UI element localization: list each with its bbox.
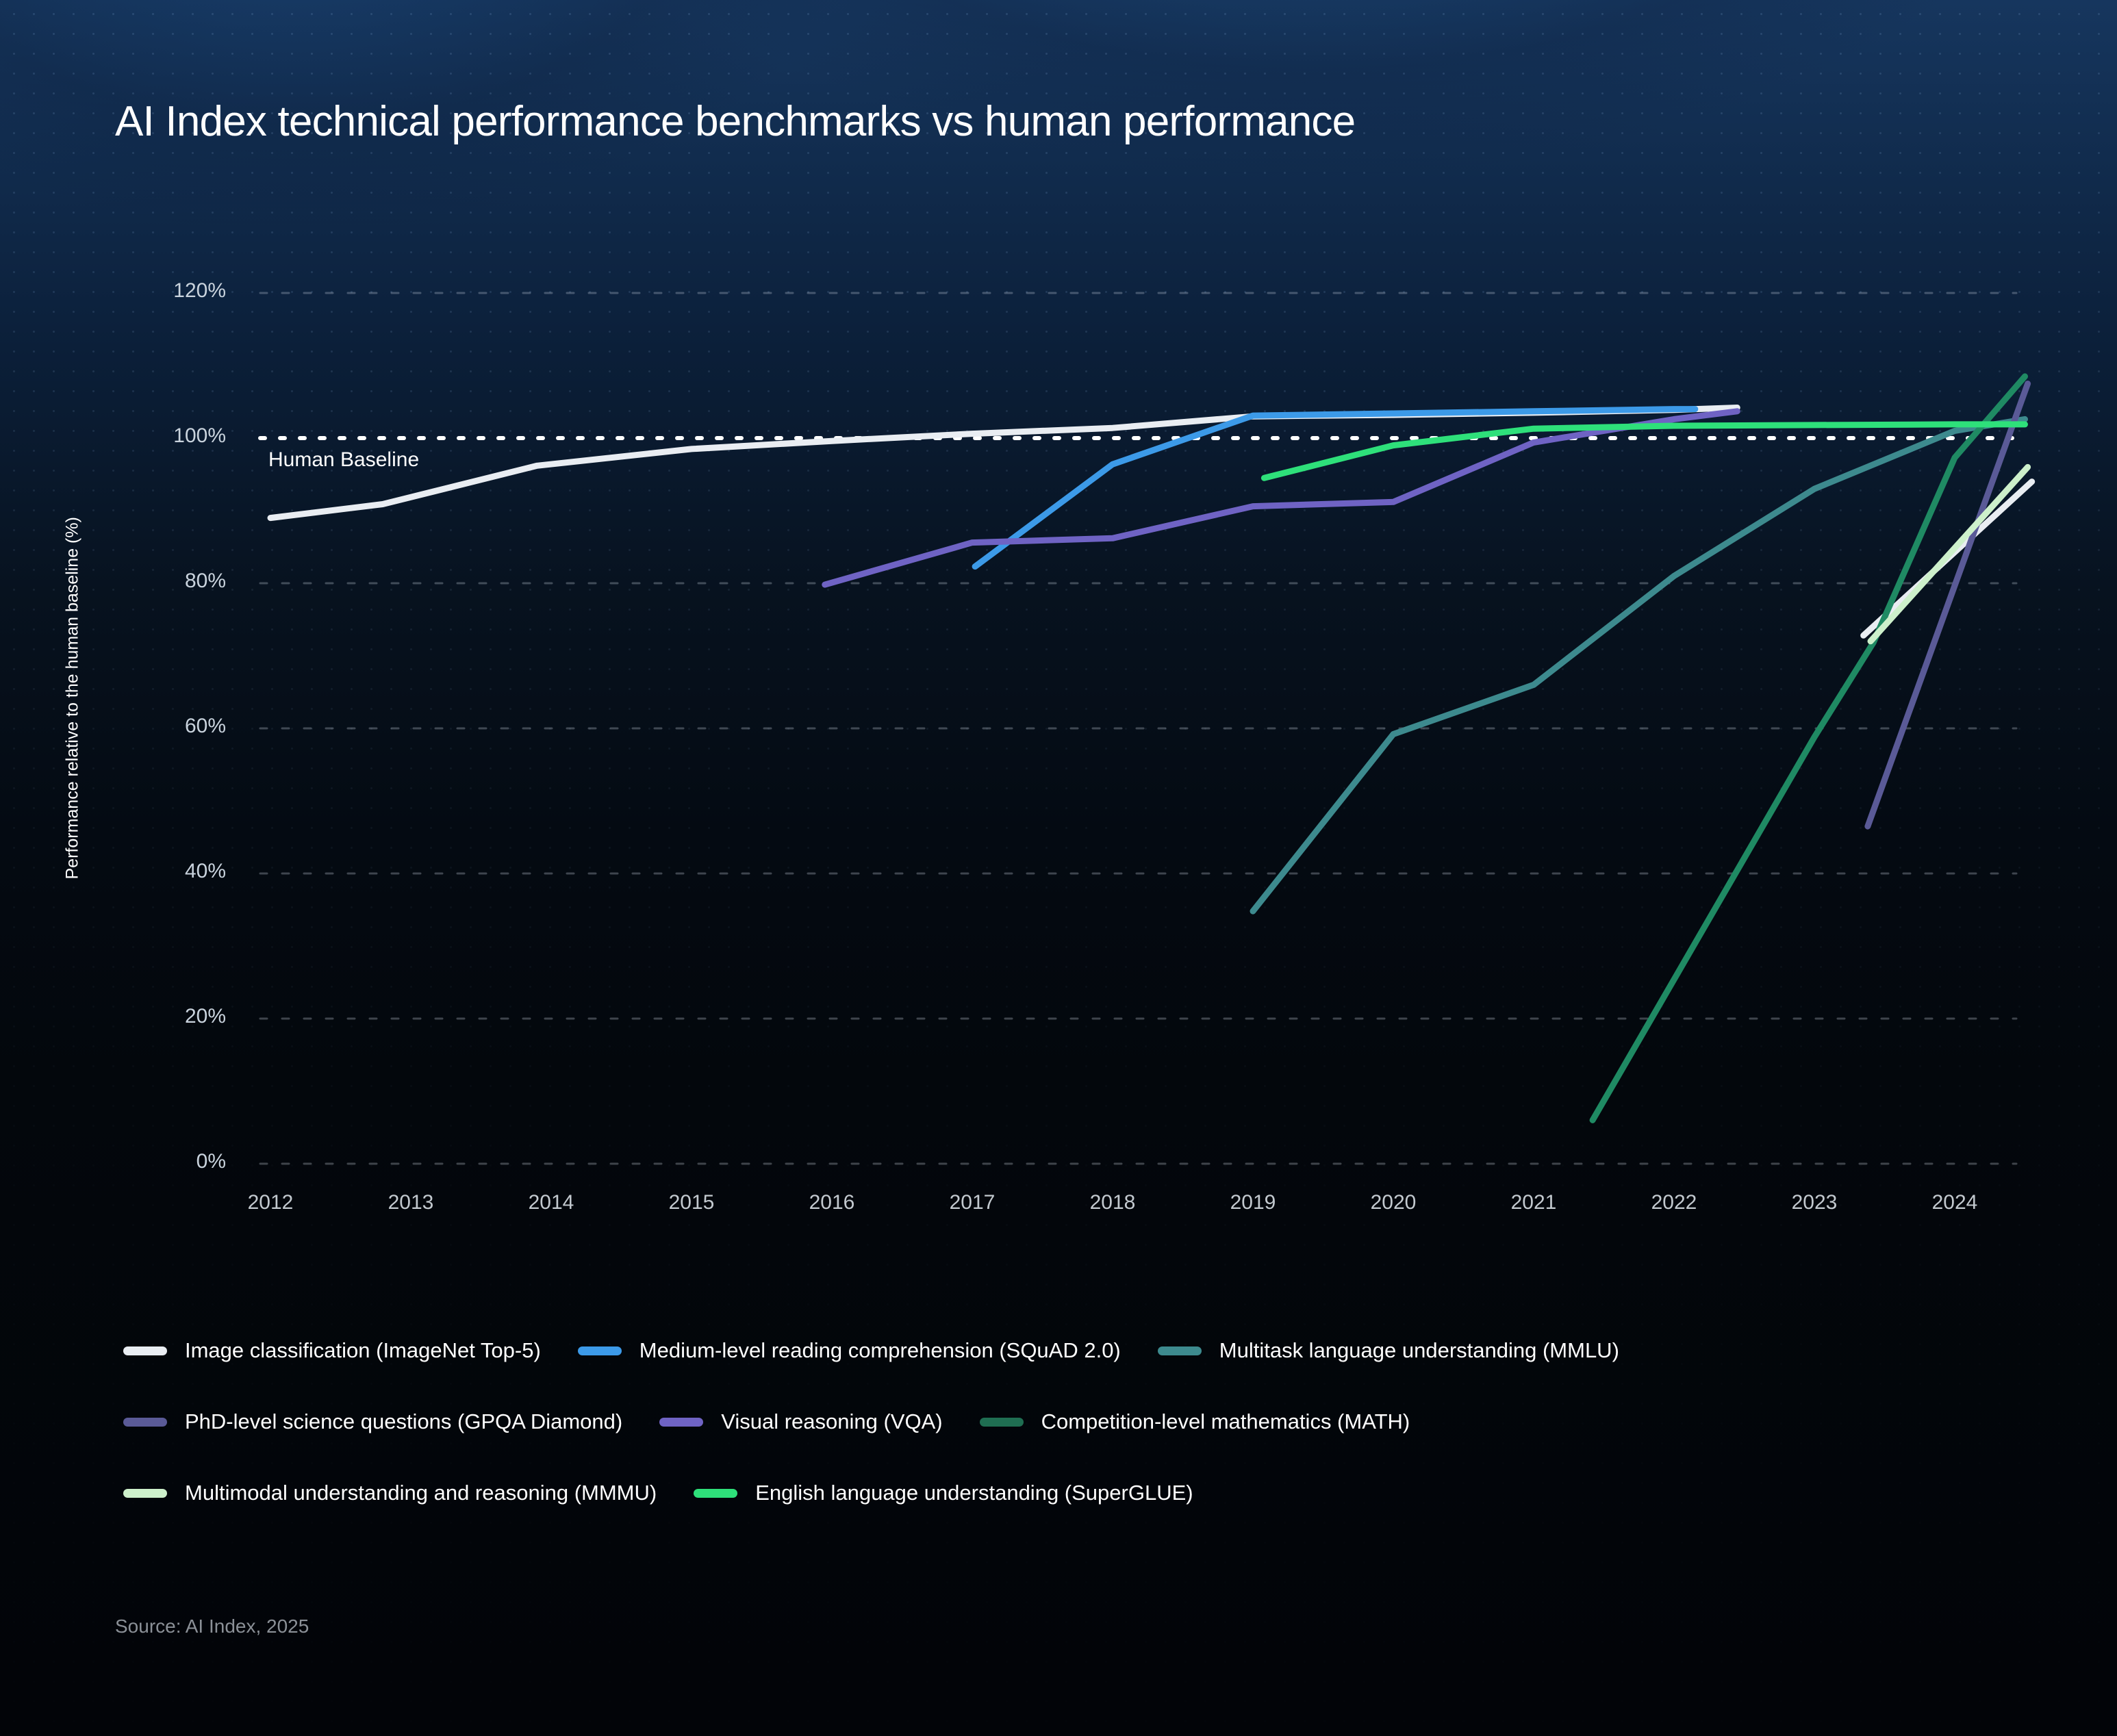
x-axis-tick-2018: 2018 xyxy=(1058,1191,1167,1214)
legend-label: English language understanding (SuperGLU… xyxy=(755,1481,1193,1505)
x-axis-tick-2016: 2016 xyxy=(777,1191,887,1214)
x-axis-tick-2022: 2022 xyxy=(1619,1191,1729,1214)
legend-swatch-icon xyxy=(1158,1346,1202,1355)
y-axis-tick-60pct: 60% xyxy=(123,715,226,738)
legend-row: PhD-level science questions (GPQA Diamon… xyxy=(123,1409,1447,1434)
series-line-2 xyxy=(1253,419,2025,911)
legend-label: PhD-level science questions (GPQA Diamon… xyxy=(185,1409,622,1434)
legend-swatch-icon xyxy=(659,1418,703,1427)
legend-item[interactable]: Medium-level reading comprehension (SQuA… xyxy=(578,1338,1121,1363)
legend-swatch-icon xyxy=(123,1489,167,1498)
y-axis-tick-80pct: 80% xyxy=(123,570,226,593)
x-axis-tick-2024: 2024 xyxy=(1900,1191,2010,1214)
legend-row: Image classification (ImageNet Top-5)Med… xyxy=(123,1338,1656,1363)
x-axis-tick-2023: 2023 xyxy=(1760,1191,1869,1214)
series-line-5 xyxy=(1593,376,2025,1121)
x-axis-tick-2015: 2015 xyxy=(637,1191,746,1214)
series-line-0 xyxy=(270,408,1737,518)
x-axis-tick-2019: 2019 xyxy=(1198,1191,1308,1214)
y-axis-tick-100pct: 100% xyxy=(123,424,226,448)
y-axis-tick-40pct: 40% xyxy=(123,860,226,883)
legend-item[interactable]: PhD-level science questions (GPQA Diamon… xyxy=(123,1409,622,1434)
legend-label: Multimodal understanding and reasoning (… xyxy=(185,1481,657,1505)
legend-swatch-icon xyxy=(980,1418,1024,1427)
legend-item[interactable]: English language understanding (SuperGLU… xyxy=(694,1481,1193,1505)
legend-item[interactable]: Multimodal understanding and reasoning (… xyxy=(123,1481,657,1505)
legend-label: Competition-level mathematics (MATH) xyxy=(1041,1409,1410,1434)
legend-label: Image classification (ImageNet Top-5) xyxy=(185,1338,541,1363)
x-axis-tick-2020: 2020 xyxy=(1339,1191,1448,1214)
y-axis-title: Performance relative to the human baseli… xyxy=(63,592,83,880)
legend-item[interactable]: Visual reasoning (VQA) xyxy=(659,1409,942,1434)
y-axis-tick-20pct: 20% xyxy=(123,1005,226,1028)
series-line-6 xyxy=(1871,467,2028,641)
legend-item[interactable]: Competition-level mathematics (MATH) xyxy=(980,1409,1410,1434)
y-axis-tick-0pct: 0% xyxy=(123,1150,226,1173)
x-axis-tick-2017: 2017 xyxy=(917,1191,1027,1214)
x-axis-tick-2014: 2014 xyxy=(496,1191,606,1214)
legend-label: Multitask language understanding (MMLU) xyxy=(1219,1338,1619,1363)
legend-label: Visual reasoning (VQA) xyxy=(721,1409,942,1434)
x-axis-tick-2012: 2012 xyxy=(216,1191,325,1214)
chart-canvas: AI Index technical performance benchmark… xyxy=(0,0,2117,1736)
human-baseline-annotation: Human Baseline xyxy=(268,448,419,472)
legend-label: Medium-level reading comprehension (SQuA… xyxy=(639,1338,1121,1363)
legend-row: Multimodal understanding and reasoning (… xyxy=(123,1481,1230,1505)
y-axis-tick-120pct: 120% xyxy=(123,279,226,303)
line-chart-plot xyxy=(0,0,2117,1736)
legend-swatch-icon xyxy=(694,1489,737,1498)
legend-item[interactable]: Image classification (ImageNet Top-5) xyxy=(123,1338,541,1363)
legend-swatch-icon xyxy=(578,1346,622,1355)
source-caption: Source: AI Index, 2025 xyxy=(115,1616,309,1637)
legend-item[interactable]: Multitask language understanding (MMLU) xyxy=(1158,1338,1619,1363)
legend-swatch-icon xyxy=(123,1346,167,1355)
x-axis-tick-2013: 2013 xyxy=(356,1191,466,1214)
legend-swatch-icon xyxy=(123,1418,167,1427)
x-axis-tick-2021: 2021 xyxy=(1479,1191,1588,1214)
